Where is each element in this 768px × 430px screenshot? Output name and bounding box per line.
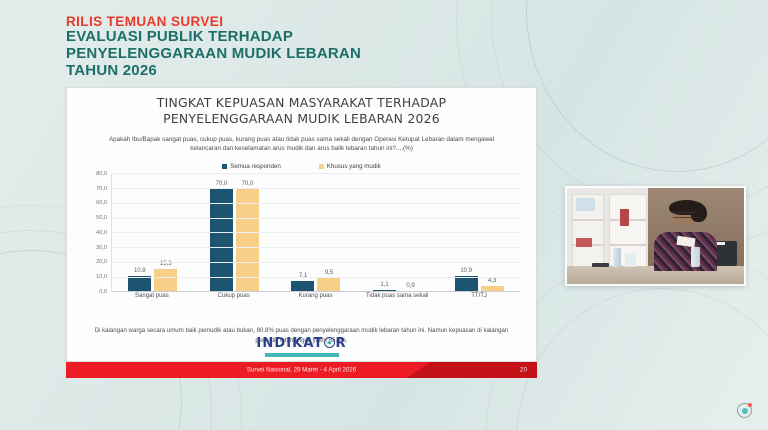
logo-text-left: INDIKAT [256,336,323,351]
bar: 10,8 [128,276,151,292]
gridline [112,262,520,263]
bar-value-label: 0,9 [406,283,414,289]
legend-item-khusus-yang-mudik: Khusus yang mudik [319,163,381,170]
x-axis-labels: Sangat puasCukup puasKurang puasTidak pu… [111,293,520,301]
phone-on-desk [592,263,610,267]
target-icon [324,337,335,348]
x-axis-label: TT/TJ [438,293,520,301]
deck-title-line-2: PENYELENGGARAAN MUDIK LEBARAN [66,46,496,63]
logo-wordmark: INDIKATR [256,336,346,351]
plot-area: 10,815,370,070,07,19,51,10,910,94,3 [111,174,520,292]
x-axis-label: Kurang puas [275,293,357,301]
deck-title-block: RILIS TEMUAN SURVEI EVALUASI PUBLIK TERH… [66,14,496,80]
x-axis-label: Cukup puas [193,293,275,301]
bar-value-label: 70,0 [216,181,228,187]
y-axis-tick: 20,0 [96,259,107,265]
legend-label: Khusus yang mudik [327,163,381,170]
x-axis-label: Tidak puas sama sekali [356,293,438,301]
survey-question: Apakah Ibu/Bapak sangat puas, cukup puas… [103,135,500,154]
slide-title-line-2: PENYELENGGARAAN MUDIK LEBARAN 2026 [67,111,536,127]
glasses-icon [673,212,698,218]
chart-legend: Semua responden Khusus yang mudik [67,163,536,170]
water-bottle-right [691,247,700,267]
legend-swatch-icon [222,164,227,169]
deck-eyebrow: RILIS TEMUAN SURVEI [66,14,496,29]
bar-value-label: 10,8 [134,268,146,274]
y-axis: 0,010,020,030,040,050,060,070,080,0 [81,174,109,292]
watermark-accent-dot [748,403,752,407]
gridline [112,173,520,174]
bar-value-label: 70,0 [242,181,254,187]
x-axis-label: Sangat puas [111,293,193,301]
water-bottle-left [613,248,621,267]
bar-value-label: 1,1 [380,282,388,288]
presenter-video-tile[interactable] [565,186,746,286]
legend-label: Semua responden [230,163,281,170]
y-axis-tick: 40,0 [96,230,107,236]
legend-item-semua-responden: Semua responden [222,163,281,170]
footer-survey-period: Survei Nasional, 29 Maret - 4 April 2026 [247,367,356,374]
gridline [112,188,520,189]
gridline [112,232,520,233]
shelf-object-red [620,209,629,226]
y-axis-tick: 0,0 [99,289,107,295]
y-axis-tick: 70,0 [96,186,107,192]
slide-title-line-1: TINGKAT KEPUASAN MASYARAKAT TERHADAP [67,95,536,111]
slide-footer-bar: Survei Nasional, 29 Maret - 4 April 2026… [66,362,537,378]
gridline [112,277,520,278]
bar: 7,1 [291,281,314,291]
bar: 10,9 [455,276,478,292]
wall-paper-blue [576,198,595,211]
logo-text-right: R [335,336,346,351]
y-axis-tick: 30,0 [96,245,107,251]
bar-chart: 0,010,020,030,040,050,060,070,080,0 10,8… [81,174,522,292]
drinking-glass [625,253,636,266]
y-axis-tick: 10,0 [96,274,107,280]
gridline [112,247,520,248]
gridline [112,218,520,219]
watermark-inner-dot [742,408,748,414]
footer-page-number: 20 [520,367,527,374]
legend-swatch-icon [319,164,324,169]
gridline [112,203,520,204]
corner-watermark-icon [737,403,752,418]
bar: 15,3 [154,269,177,292]
deck-title-line-1: EVALUASI PUBLIK TERHADAP [66,29,496,46]
bar-value-label: 9,5 [325,270,333,276]
y-axis-tick: 60,0 [96,200,107,206]
presentation-slide: TINGKAT KEPUASAN MASYARAKAT TERHADAP PEN… [66,87,537,362]
deck-title-line-3: TAHUN 2026 [66,63,496,80]
y-axis-tick: 80,0 [96,171,107,177]
indikator-logo: INDIKATR [67,334,536,357]
bar-value-label: 4,3 [488,278,496,284]
bar-value-label: 10,9 [460,268,472,274]
slide-title: TINGKAT KEPUASAN MASYARAKAT TERHADAP PEN… [67,95,536,128]
y-axis-tick: 50,0 [96,215,107,221]
wall-paper-red [576,238,592,247]
logo-underbar [265,353,339,357]
footer-wedge [407,362,537,378]
bar: 9,5 [317,278,340,292]
